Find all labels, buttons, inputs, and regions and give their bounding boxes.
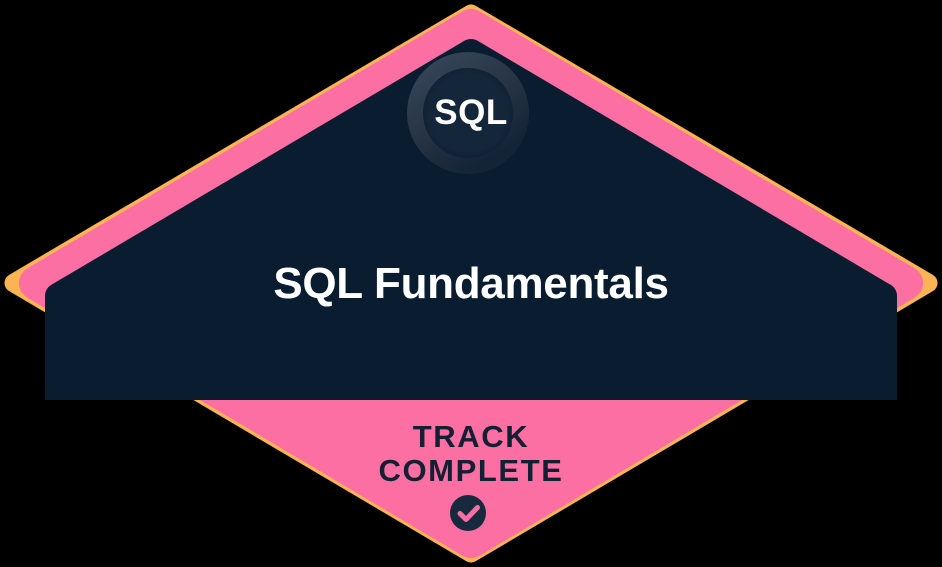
badge-graphic [0, 0, 942, 567]
track-badge[interactable]: SQL SQL Fundamentals TRACK COMPLETE [0, 0, 942, 567]
sql-chip [402, 47, 534, 179]
check-circle-icon [450, 495, 486, 531]
